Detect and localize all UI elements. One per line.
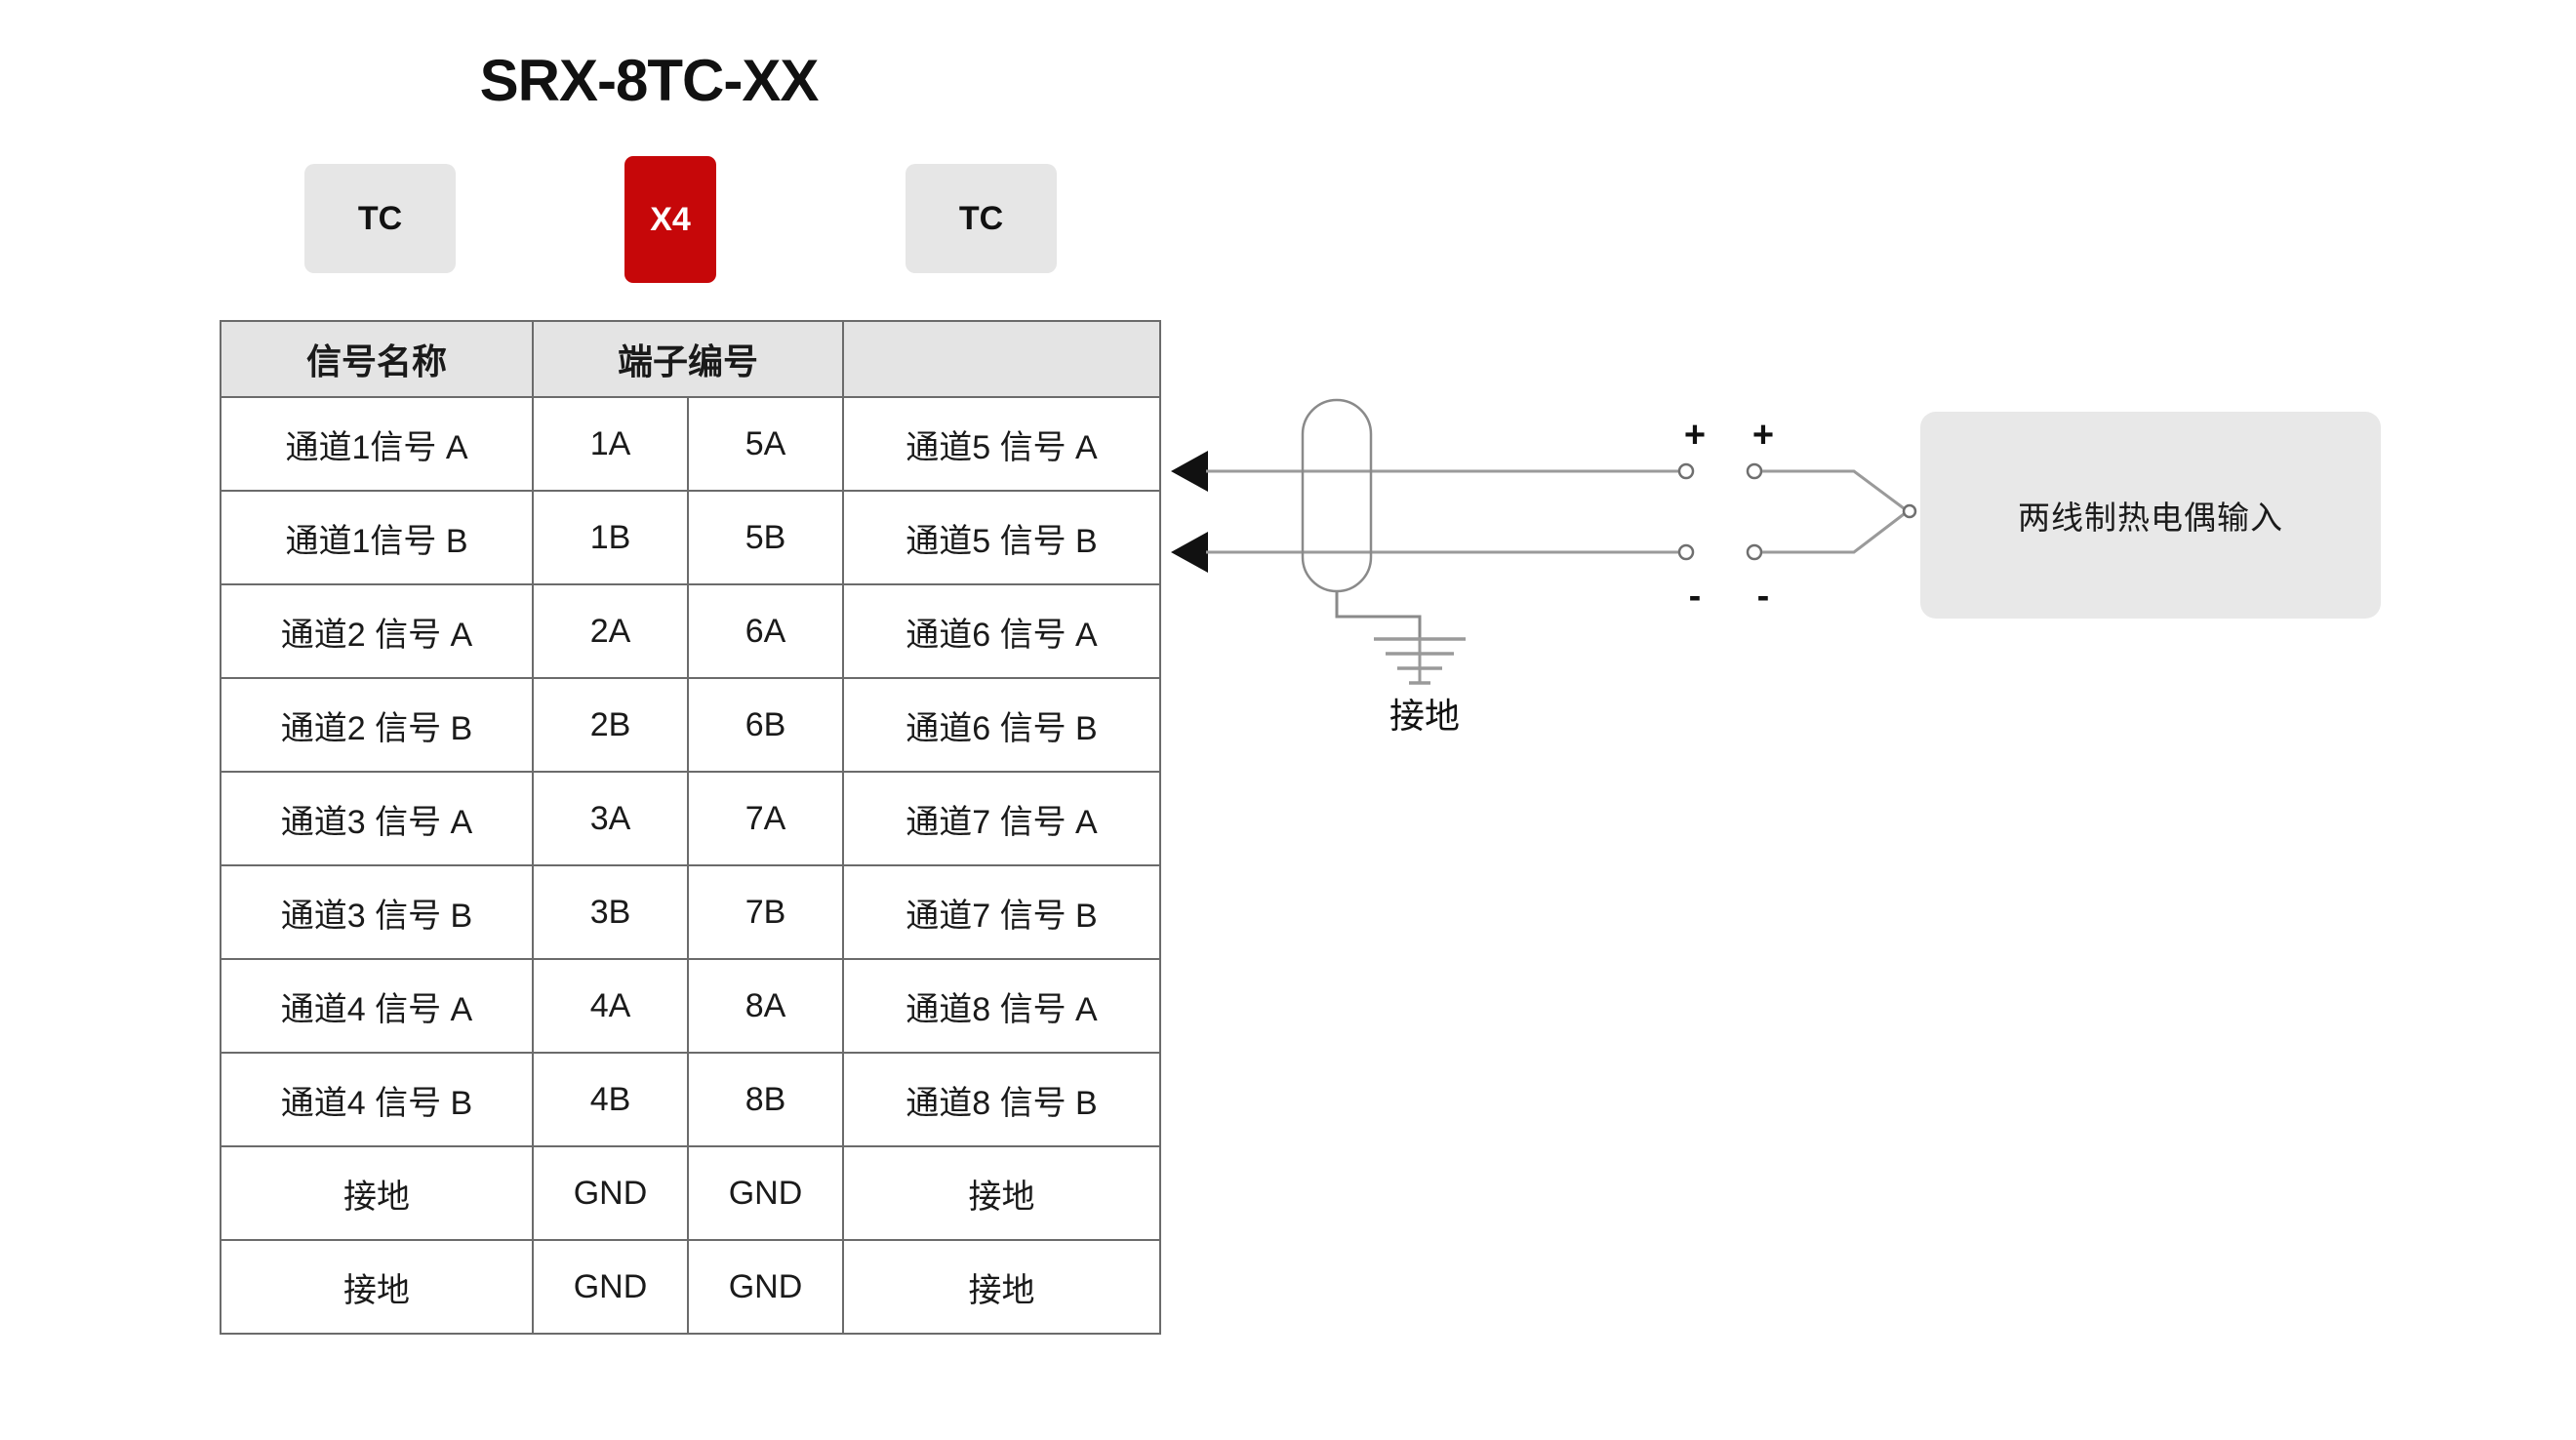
table-header: 信号名称 端子编号 bbox=[221, 321, 1160, 397]
thermocouple-leg-minus bbox=[1762, 511, 1908, 552]
cell-signal-left: 通道3 信号 B bbox=[221, 865, 533, 959]
cell-signal-right: 通道6 信号 B bbox=[843, 678, 1160, 772]
cell-signal-left: 通道3 信号 A bbox=[221, 772, 533, 865]
table-body: 通道1信号 A1A5A通道5 信号 A通道1信号 B1B5B通道5 信号 B通道… bbox=[221, 397, 1160, 1334]
arrow-head-signal-b bbox=[1171, 532, 1208, 573]
table-header-row: 信号名称 端子编号 bbox=[221, 321, 1160, 397]
cell-terminal-left: 1A bbox=[533, 397, 688, 491]
cell-signal-right: 通道5 信号 B bbox=[843, 491, 1160, 584]
cell-terminal-right: 7B bbox=[688, 865, 843, 959]
shield-drain-wire bbox=[1337, 591, 1420, 639]
terminal-outer-minus bbox=[1748, 545, 1761, 559]
table-row: 通道3 信号 B3B7B通道7 信号 B bbox=[221, 865, 1160, 959]
terminal-inner-plus bbox=[1679, 464, 1693, 478]
cell-signal-right: 通道8 信号 B bbox=[843, 1053, 1160, 1146]
badge-tc-right: TC bbox=[906, 164, 1057, 273]
badge-tc-left-label: TC bbox=[358, 200, 402, 238]
badge-tc-right-label: TC bbox=[959, 200, 1003, 238]
ground-label: 接地 bbox=[1337, 688, 1512, 739]
header-terminal-number: 端子编号 bbox=[533, 321, 843, 397]
cell-signal-left: 接地 bbox=[221, 1146, 533, 1240]
cell-signal-left: 通道2 信号 B bbox=[221, 678, 533, 772]
cell-terminal-left: 3B bbox=[533, 865, 688, 959]
cell-signal-left: 通道4 信号 A bbox=[221, 959, 533, 1053]
cable-shield-capsule bbox=[1303, 400, 1371, 591]
cell-signal-right: 通道6 信号 A bbox=[843, 584, 1160, 678]
polarity-minus-outer: - bbox=[1747, 576, 1780, 618]
table-row: 接地GNDGND接地 bbox=[221, 1240, 1160, 1334]
table-row: 通道2 信号 A2A6A通道6 信号 A bbox=[221, 584, 1160, 678]
cell-signal-right: 通道8 信号 A bbox=[843, 959, 1160, 1053]
polarity-plus-outer: + bbox=[1747, 415, 1780, 457]
cell-terminal-right: 6A bbox=[688, 584, 843, 678]
cell-signal-right: 接地 bbox=[843, 1240, 1160, 1334]
cell-terminal-right: 6B bbox=[688, 678, 843, 772]
cell-terminal-left: 1B bbox=[533, 491, 688, 584]
cell-signal-right: 通道7 信号 A bbox=[843, 772, 1160, 865]
badge-x4-multiplier: X4 bbox=[624, 156, 716, 283]
cell-terminal-left: 2A bbox=[533, 584, 688, 678]
cell-signal-left: 通道1信号 A bbox=[221, 397, 533, 491]
table-row: 通道4 信号 B4B8B通道8 信号 B bbox=[221, 1053, 1160, 1146]
header-blank bbox=[843, 321, 1160, 397]
cell-terminal-left: 4A bbox=[533, 959, 688, 1053]
terminal-outer-plus bbox=[1748, 464, 1761, 478]
cell-signal-right: 接地 bbox=[843, 1146, 1160, 1240]
polarity-minus-inner: - bbox=[1678, 576, 1711, 618]
terminal-assignment-table: 信号名称 端子编号 通道1信号 A1A5A通道5 信号 A通道1信号 B1B5B… bbox=[220, 320, 1161, 1335]
cell-terminal-right: 5B bbox=[688, 491, 843, 584]
terminal-inner-minus bbox=[1679, 545, 1693, 559]
cell-signal-right: 通道5 信号 A bbox=[843, 397, 1160, 491]
cell-terminal-left: 3A bbox=[533, 772, 688, 865]
cell-signal-right: 通道7 信号 B bbox=[843, 865, 1160, 959]
badge-x4-label: X4 bbox=[650, 201, 691, 239]
cell-terminal-left: 4B bbox=[533, 1053, 688, 1146]
header-signal-name: 信号名称 bbox=[221, 321, 533, 397]
thermocouple-leg-plus bbox=[1762, 471, 1908, 511]
table-row: 通道2 信号 B2B6B通道6 信号 B bbox=[221, 678, 1160, 772]
cell-terminal-left: GND bbox=[533, 1146, 688, 1240]
table-row: 通道3 信号 A3A7A通道7 信号 A bbox=[221, 772, 1160, 865]
cell-signal-left: 通道1信号 B bbox=[221, 491, 533, 584]
thermocouple-input-label: 两线制热电偶输入 bbox=[2018, 492, 2283, 539]
cell-signal-left: 接地 bbox=[221, 1240, 533, 1334]
cell-terminal-right: GND bbox=[688, 1240, 843, 1334]
table-row: 接地GNDGND接地 bbox=[221, 1146, 1160, 1240]
cell-terminal-right: 8A bbox=[688, 959, 843, 1053]
cell-signal-left: 通道4 信号 B bbox=[221, 1053, 533, 1146]
cell-terminal-right: GND bbox=[688, 1146, 843, 1240]
cell-terminal-left: 2B bbox=[533, 678, 688, 772]
page-title: SRX-8TC-XX bbox=[420, 47, 878, 114]
cell-terminal-right: 5A bbox=[688, 397, 843, 491]
table-row: 通道1信号 B1B5B通道5 信号 B bbox=[221, 491, 1160, 584]
cell-terminal-right: 8B bbox=[688, 1053, 843, 1146]
polarity-plus-inner: + bbox=[1678, 415, 1711, 457]
table-row: 通道4 信号 A4A8A通道8 信号 A bbox=[221, 959, 1160, 1053]
thermocouple-junction-node bbox=[1904, 505, 1915, 517]
table-row: 通道1信号 A1A5A通道5 信号 A bbox=[221, 397, 1160, 491]
cell-signal-left: 通道2 信号 A bbox=[221, 584, 533, 678]
cell-terminal-right: 7A bbox=[688, 772, 843, 865]
thermocouple-input-box: 两线制热电偶输入 bbox=[1920, 412, 2381, 619]
cell-terminal-left: GND bbox=[533, 1240, 688, 1334]
arrow-head-signal-a bbox=[1171, 451, 1208, 492]
badge-tc-left: TC bbox=[304, 164, 456, 273]
